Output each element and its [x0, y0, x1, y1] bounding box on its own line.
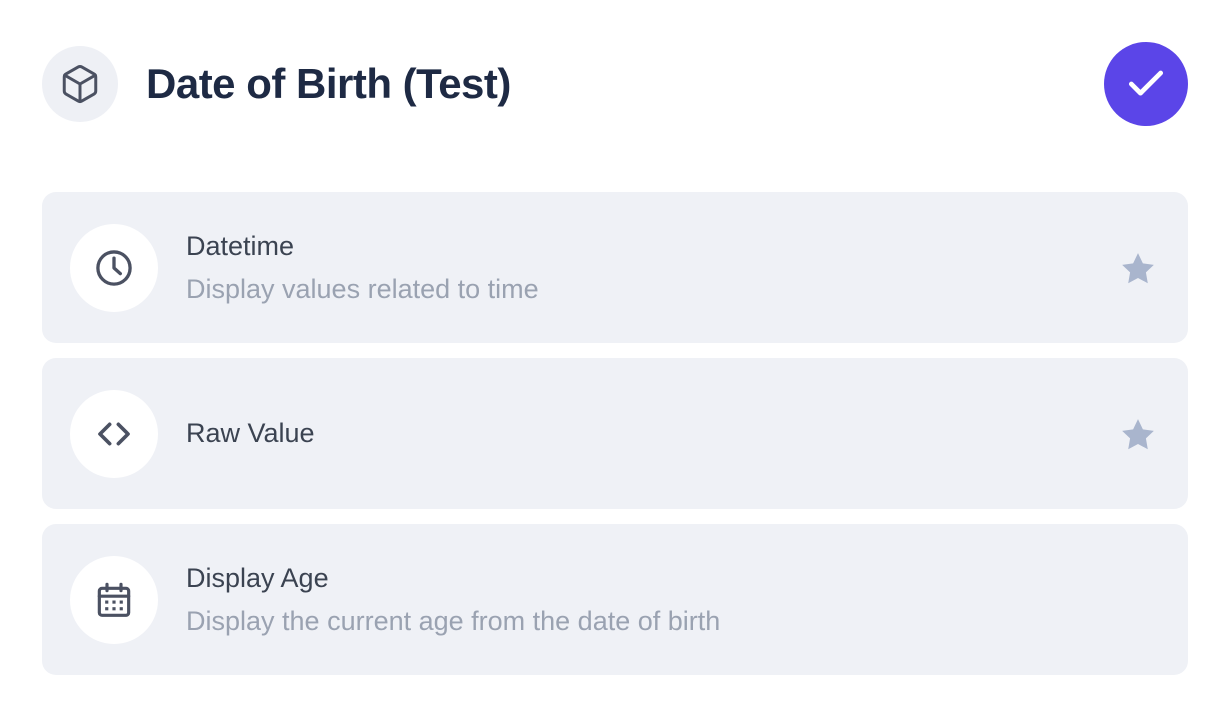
- option-subtitle: Display the current age from the date of…: [186, 605, 1098, 637]
- code-brackets-icon: [70, 390, 158, 478]
- option-title: Display Age: [186, 562, 1098, 594]
- page-root: Date of Birth (Test) Datetime Display va…: [0, 0, 1216, 704]
- page-title: Date of Birth (Test): [146, 61, 511, 107]
- star-icon[interactable]: [1118, 414, 1158, 454]
- option-row-raw-value[interactable]: Raw Value: [42, 358, 1188, 509]
- page-header: Date of Birth (Test): [42, 36, 1188, 132]
- clock-icon: [70, 224, 158, 312]
- option-text: Display Age Display the current age from…: [186, 562, 1098, 637]
- cube-icon: [42, 46, 118, 122]
- star-icon[interactable]: [1118, 248, 1158, 288]
- option-list: Datetime Display values related to time …: [42, 192, 1188, 675]
- confirm-button[interactable]: [1104, 42, 1188, 126]
- option-row-display-age[interactable]: Display Age Display the current age from…: [42, 524, 1188, 675]
- option-title: Raw Value: [186, 417, 1098, 449]
- option-text: Raw Value: [186, 417, 1098, 449]
- option-row-datetime[interactable]: Datetime Display values related to time: [42, 192, 1188, 343]
- option-title: Datetime: [186, 230, 1098, 262]
- check-icon: [1124, 62, 1168, 106]
- option-text: Datetime Display values related to time: [186, 230, 1098, 305]
- option-subtitle: Display values related to time: [186, 273, 1098, 305]
- calendar-icon: [70, 556, 158, 644]
